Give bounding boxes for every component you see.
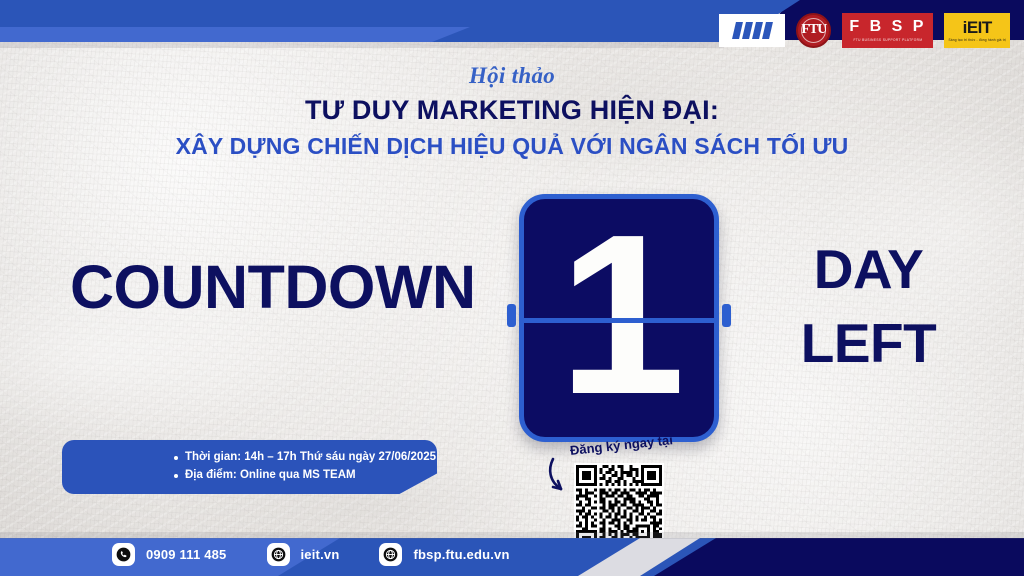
flip-card-body: 1 <box>519 194 719 442</box>
flip-card-tab-right <box>722 304 731 327</box>
detail-row-time: Thời gian: 14h – 17h Thứ sáu ngày 27/06/… <box>174 449 437 467</box>
countdown-word: COUNTDOWN <box>70 257 476 318</box>
flip-card-countdown: 1 <box>519 194 719 442</box>
ieit-logo-text: iEIT <box>963 19 992 36</box>
countdown-poster: FTU F B S P FTU BUSINESS SUPPORT PLATFOR… <box>0 0 1024 576</box>
footer-ieit-text: ieit.vn <box>301 547 340 562</box>
ftu-seal-text: FTU <box>801 23 826 37</box>
header-banner: FTU F B S P FTU BUSINESS SUPPORT PLATFOR… <box>0 0 1024 58</box>
footer-phone-text: 0909 111 485 <box>146 547 227 562</box>
footer-contact-phone[interactable]: 0909 111 485 <box>112 543 227 566</box>
event-title: TƯ DUY MARKETING HIỆN ĐẠI: <box>0 94 1024 126</box>
countdown-unit-line1: DAY <box>786 240 951 298</box>
phone-icon <box>112 543 135 566</box>
globe-icon <box>379 543 402 566</box>
fbsp-logo-subtext: FTU BUSINESS SUPPORT PLATFORM <box>853 38 922 42</box>
detail-location-text: Địa điểm: Online qua MS TEAM <box>185 467 356 485</box>
flip-card-tab-left <box>507 304 516 327</box>
globe-icon <box>267 543 290 566</box>
ieit-logo-icon: iEIT Sáng tạo tri thức - đồng hành giá t… <box>944 13 1010 48</box>
ieit-logo-subtext: Sáng tạo tri thức - đồng hành giá trị <box>948 38 1006 42</box>
fbsp-logo-text: F B S P <box>849 19 926 35</box>
ftu-seal-logo-icon: FTU <box>796 13 831 48</box>
countdown-unit-line2: LEFT <box>786 314 951 372</box>
flip-card-divider <box>519 318 719 323</box>
footer-banner: 0909 111 485 ieit.vn <box>0 532 1024 576</box>
title-block: Hội thảo TƯ DUY MARKETING HIỆN ĐẠI: XÂY … <box>0 63 1024 160</box>
bars-logo-icon <box>719 14 785 47</box>
footer-fbsp-text: fbsp.ftu.edu.vn <box>413 547 509 562</box>
header-logo-group: FTU F B S P FTU BUSINESS SUPPORT PLATFOR… <box>719 11 1010 49</box>
countdown-unit-label: DAY LEFT <box>786 240 951 373</box>
bullet-icon <box>174 456 178 460</box>
footer-contact-website-ieit[interactable]: ieit.vn <box>267 543 340 566</box>
event-kicker: Hội thảo <box>0 63 1024 89</box>
footer-contact-list: 0909 111 485 ieit.vn <box>112 532 510 576</box>
event-subtitle: XÂY DỰNG CHIẾN DỊCH HIỆU QUẢ VỚI NGÂN SÁ… <box>0 133 1024 161</box>
bullet-icon <box>174 474 178 478</box>
event-details-box: Thời gian: 14h – 17h Thứ sáu ngày 27/06/… <box>62 440 437 494</box>
detail-row-location: Địa điểm: Online qua MS TEAM <box>174 467 437 485</box>
footer-contact-website-fbsp[interactable]: fbsp.ftu.edu.vn <box>379 543 509 566</box>
detail-time-text: Thời gian: 14h – 17h Thứ sáu ngày 27/06/… <box>185 449 436 467</box>
fbsp-logo-icon: F B S P FTU BUSINESS SUPPORT PLATFORM <box>842 13 933 48</box>
